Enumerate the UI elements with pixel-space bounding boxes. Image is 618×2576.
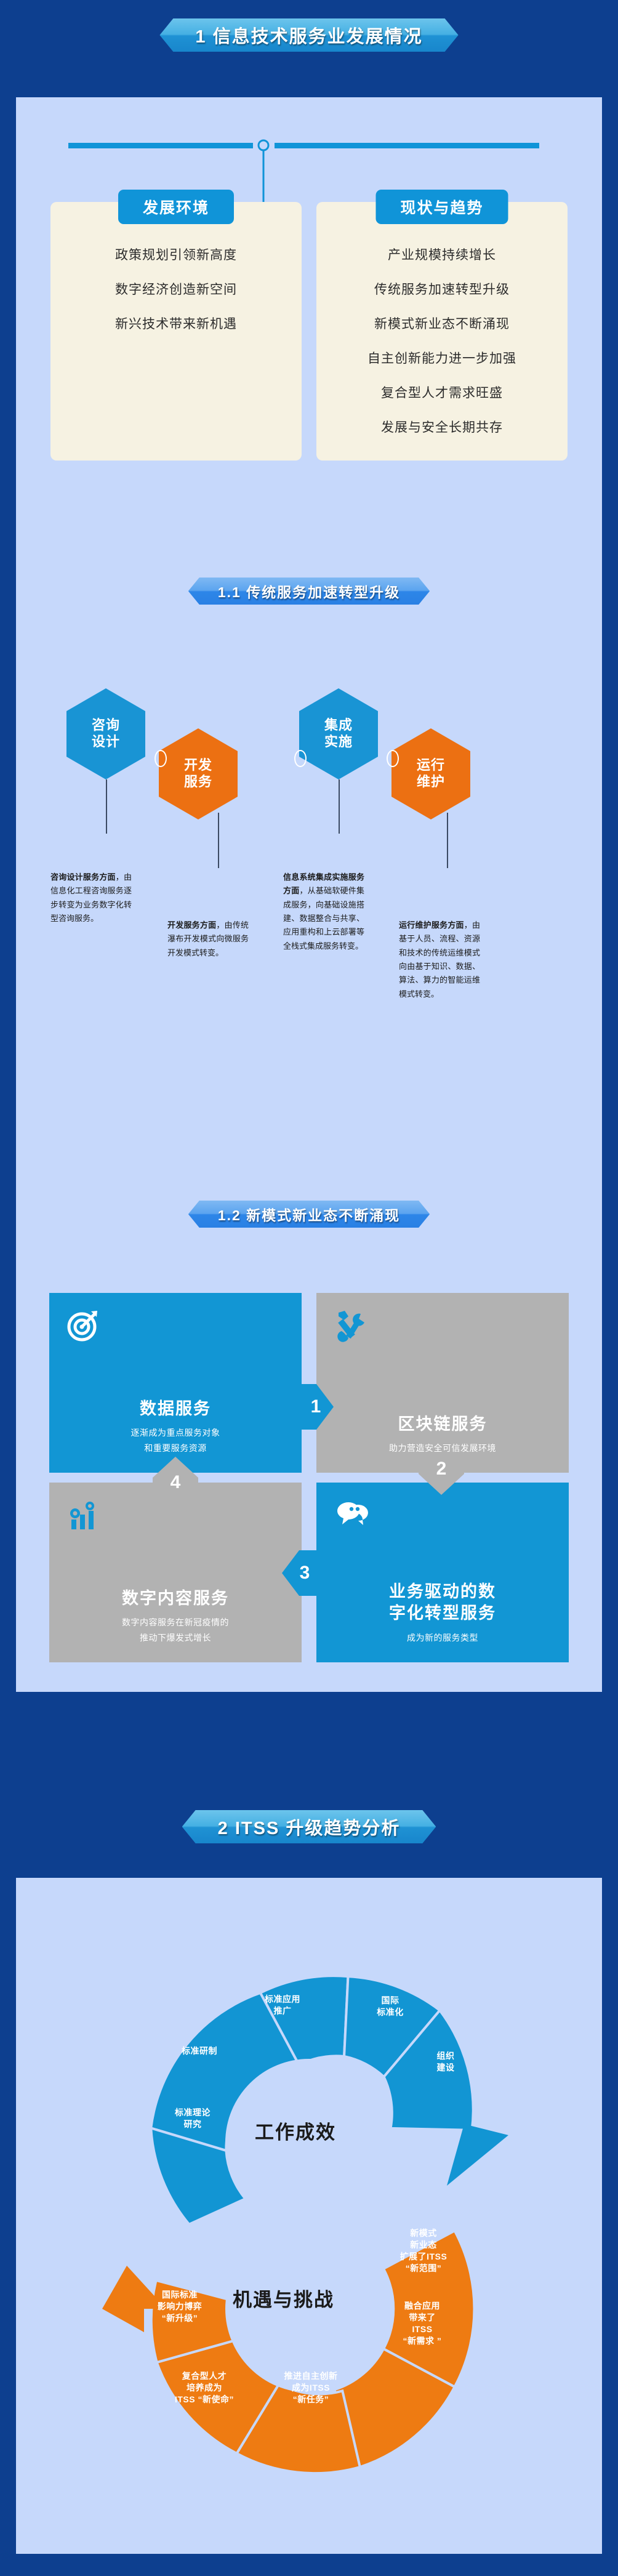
description-lead: 运行维护服务方面 [399,920,464,930]
card-title: 发展环境 [118,190,234,224]
segment-label-independent-innovation: 推进自主创新 成为ITSS “新任务” [265,2370,357,2405]
card-item-list: 产业规模持续增长 传统服务加速转型升级 新模式新业态不断涌现 自主创新能力进一步… [316,245,568,436]
section1-banner: 1 信息技术服务业发展情况 [0,18,618,52]
hex-stem-3 [339,779,340,834]
list-item: 传统服务加速转型升级 [374,280,510,298]
quadrant-subtitle: 助力营造安全可信发展环境 [389,1441,496,1456]
card-title: 现状与趋势 [375,190,508,224]
description-operation-maintenance: 运行维护服务方面，由基于人员、流程、资源和技术的传统运维模式向由基于知识、数据、… [399,919,480,1001]
hexagon-integration-implementation: 集成 实施 [299,688,378,779]
quadrant-arrow-4: 4 [153,1454,198,1499]
hexagon-link-dot-3 [387,750,399,767]
list-item: 新兴技术带来新机遇 [115,314,237,332]
chat-icon [334,1499,369,1532]
hexagon-consulting-design: 咨询 设计 [66,688,145,779]
segment-label-standard-influence: 国际标准 影响力博弈 “新升级” [137,2289,223,2324]
quadrant-arrow-number: 1 [311,1396,321,1417]
lower-center-label: 机遇与挑战 [233,2284,334,2312]
hex-line-1: 开发 [184,757,212,774]
hex-line-1: 运行 [417,757,445,774]
list-item: 自主创新能力进一步加强 [367,348,516,367]
description-body: ，从基础软硬件集成服务，向基础设施搭建、数据整合与共享、应用重构和上云部署等全栈… [283,886,364,950]
description-lead: 开发服务方面 [167,920,216,930]
list-item: 产业规模持续增长 [388,245,496,264]
segment-label-organization-building: 组织 建设 [415,2050,476,2074]
hex-line-2: 维护 [417,774,445,791]
hexagon-link-dot-2 [294,750,307,767]
section2-panel: 工作成效 标准应用 推广 国际 标准化 组织 建设 标准研制 标准理论 研究 机… [16,1878,602,2554]
blue-arrow-head [447,2124,508,2186]
section1-banner-text: 1 信息技术服务业发展情况 [159,18,458,52]
quadrant-title: 业务驱动的数 字化转型服务 [389,1581,496,1624]
tools-icon [334,1309,368,1343]
section1-1-banner-text: 1.1 传统服务加速转型升级 [188,578,430,605]
quadrant-subtitle: 逐渐成为重点服务对象 和重要服务资源 [131,1425,220,1455]
segment-label-standard-theory-research: 标准理论 研究 [153,2107,233,2130]
segment-label-standard-application: 标准应用 推广 [243,1994,323,2017]
list-item: 政策规划引领新高度 [115,245,237,264]
segment-label-standard-development: 标准研制 [156,2045,243,2057]
quadrant-digital-content-service: 数字内容服务 数字内容服务在新冠疫情的 推动下爆发式增长 [49,1483,302,1662]
list-item: 新模式新业态不断涌现 [374,314,510,332]
card-development-environment: 发展环境 政策规划引领新高度 数字经济创造新空间 新兴技术带来新机遇 [50,202,302,461]
segment-label-international-standardization: 国际 标准化 [353,1995,427,2018]
hexagon-link-dot-1 [154,750,167,767]
quadrant-blockchain-service: 区块链服务 助力营造安全可信发展环境 [316,1293,569,1473]
hex-line-2: 实施 [324,734,353,751]
description-body: ，由基于人员、流程、资源和技术的传统运维模式向由基于知识、数据、算法、算力的智能… [399,920,480,999]
segment-label-new-models: 新模式 新业态 扩展了ITSS “新范围” [380,2228,467,2274]
quadrant-subtitle: 成为新的服务类型 [407,1630,478,1646]
target-icon [66,1309,100,1342]
hex-line-1: 咨询 [92,717,120,734]
description-development-service: 开发服务方面，由传统瀑布开发模式向微服务开发模式转变。 [167,919,249,960]
quadrant-grid: 数据服务 逐渐成为重点服务对象 和重要服务资源 区块链服务 助力营造安全可信发展… [49,1293,569,1662]
section1-1-banner: 1.1 传统服务加速转型升级 [16,578,602,605]
section1-2-banner: 1.2 新模式新业态不断涌现 [16,1201,602,1228]
section1-2-banner-text: 1.2 新模式新业态不断涌现 [188,1201,430,1228]
description-consulting-design: 咨询设计服务方面，由信息化工程咨询服务逐步转变为业务数字化转型咨询服务。 [50,871,132,925]
hex-stem-2 [218,813,219,868]
itss-s-curve-diagram [16,1878,602,2554]
list-item: 发展与安全长期共存 [381,417,503,436]
segment-label-composite-talent: 复合型人才 培养成为 ITSS “新使命” [155,2370,254,2405]
upper-center-label: 工作成效 [255,2117,336,2144]
segment-label-integrated-application: 融合应用 带来了 ITSS “新需求 ” [379,2300,465,2347]
quadrant-subtitle: 数字内容服务在新冠疫情的 推动下爆发式增长 [122,1615,229,1645]
description-lead: 咨询设计服务方面 [50,872,116,882]
hexagon-operation-maintenance: 运行 维护 [391,728,470,819]
list-item: 复合型人才需求旺盛 [381,383,503,401]
section1-panel: 发展环境 政策规划引领新高度 数字经济创造新空间 新兴技术带来新机遇 现状与趋势… [16,97,602,1692]
hexagon-development-service: 开发 服务 [159,728,238,819]
quadrant-arrow-3: 3 [281,1550,320,1596]
quadrant-title: 数字内容服务 [122,1585,229,1609]
chart-gear-icon [66,1499,101,1533]
hex-line-2: 设计 [92,734,120,751]
hex-stem-4 [447,813,448,868]
quadrant-arrow-1: 1 [295,1384,336,1430]
infographic-page: 1 信息技术服务业发展情况 发展环境 政策规划引领新高度 数字经济创造新空间 新… [0,0,618,2576]
hex-stem-1 [106,779,107,834]
quadrant-title: 区块链服务 [398,1411,488,1435]
quadrant-arrow-2: 2 [419,1454,464,1497]
hex-line-1: 集成 [324,717,353,734]
quadrant-arrow-number: 4 [171,1472,181,1493]
quadrant-data-service: 数据服务 逐渐成为重点服务对象 和重要服务资源 [49,1293,302,1473]
section2-banner: 2 ITSS 升级趋势分析 [0,1810,618,1843]
list-item: 数字经济创造新空间 [115,280,237,298]
description-integration-service: 信息系统集成实施服务方面，从基础软硬件集成服务，向基础设施搭建、数据整合与共享、… [283,871,364,953]
quadrant-arrow-number: 2 [436,1459,447,1479]
card-status-and-trends: 现状与趋势 产业规模持续增长 传统服务加速转型升级 新模式新业态不断涌现 自主创… [316,202,568,461]
hexagon-process-row: 咨询 设计 开发 服务 集成 实施 运行 维护 [16,676,602,879]
quadrant-digital-transformation-service: 业务驱动的数 字化转型服务 成为新的服务类型 [316,1483,569,1662]
hex-line-2: 服务 [184,774,212,791]
quadrant-title: 数据服务 [140,1395,211,1419]
cards-row: 发展环境 政策规划引领新高度 数字经济创造新空间 新兴技术带来新机遇 现状与趋势… [50,202,568,461]
card-item-list: 政策规划引领新高度 数字经济创造新空间 新兴技术带来新机遇 [50,245,302,332]
section2-banner-text: 2 ITSS 升级趋势分析 [182,1810,436,1843]
quadrant-arrow-number: 3 [300,1563,310,1584]
